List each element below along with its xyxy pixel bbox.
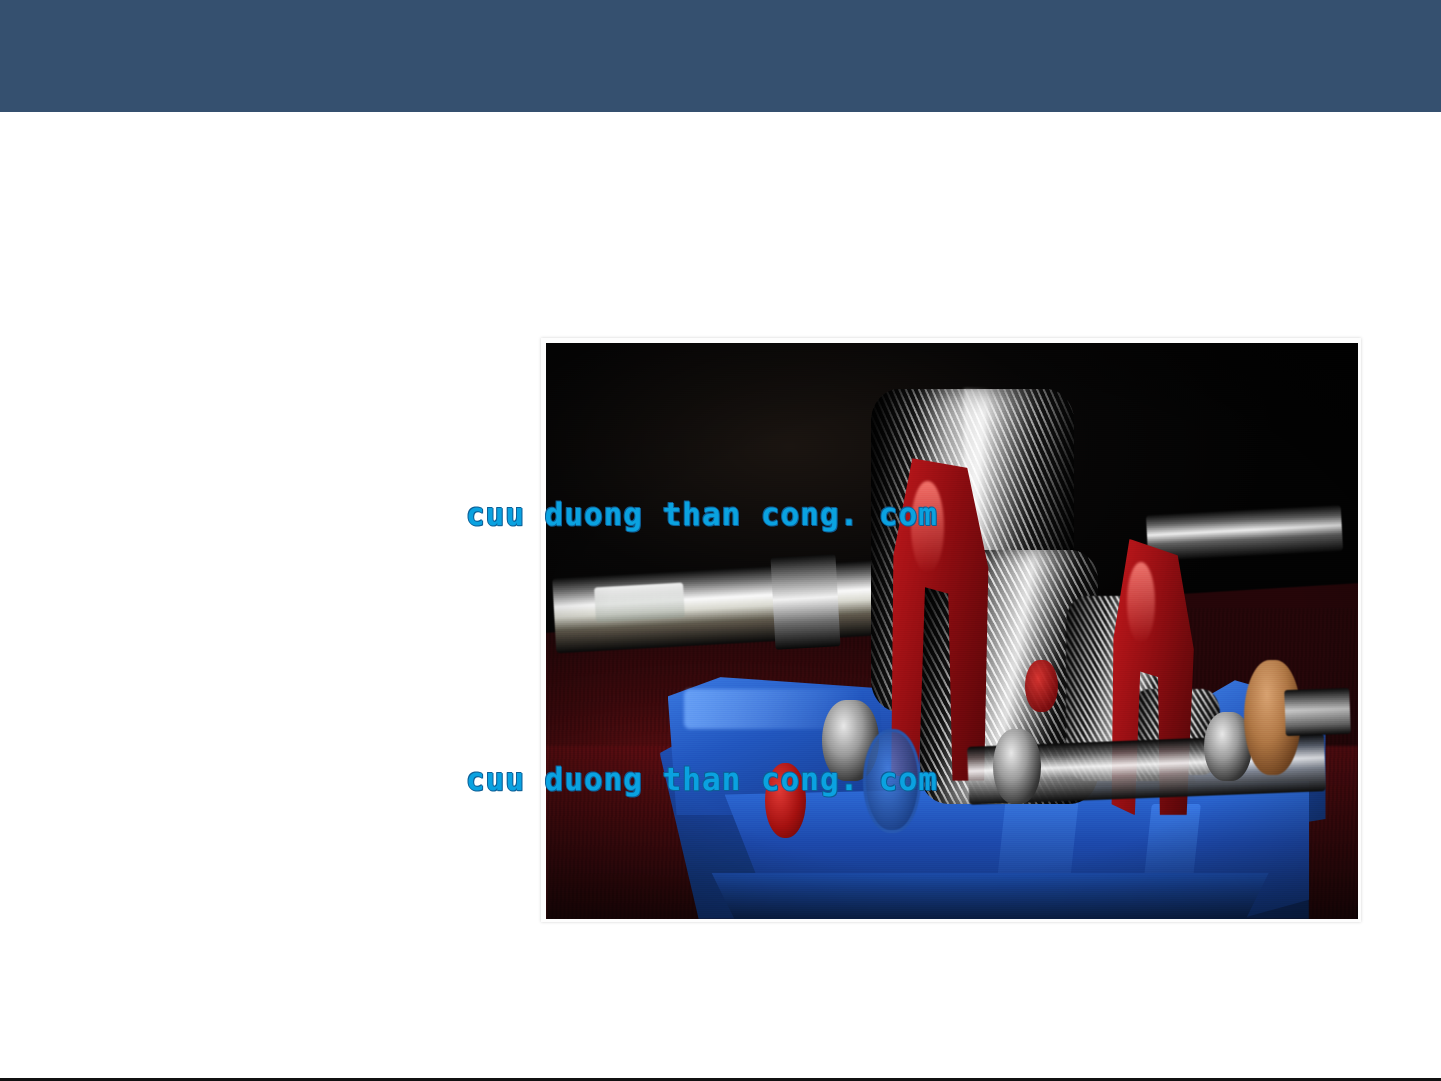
red-spacer [1025, 660, 1057, 712]
output-stub-shaft [1284, 687, 1351, 735]
red-support-highlight [1127, 562, 1155, 643]
gearbox-photo [546, 343, 1358, 919]
slide-header-banner [0, 0, 1441, 112]
red-support-highlight [911, 481, 943, 573]
roller-bearing [993, 729, 1042, 804]
input-shaft-keyway [594, 582, 685, 621]
gearbox-photo-frame [541, 338, 1361, 922]
bearing-end-cap [863, 729, 922, 833]
red-shaft-collar [765, 763, 806, 838]
slide-canvas: cuu duong than cong. com cuu duong than … [0, 0, 1441, 1081]
input-shaft-step [771, 554, 841, 650]
housing-base-foot [700, 873, 1268, 919]
